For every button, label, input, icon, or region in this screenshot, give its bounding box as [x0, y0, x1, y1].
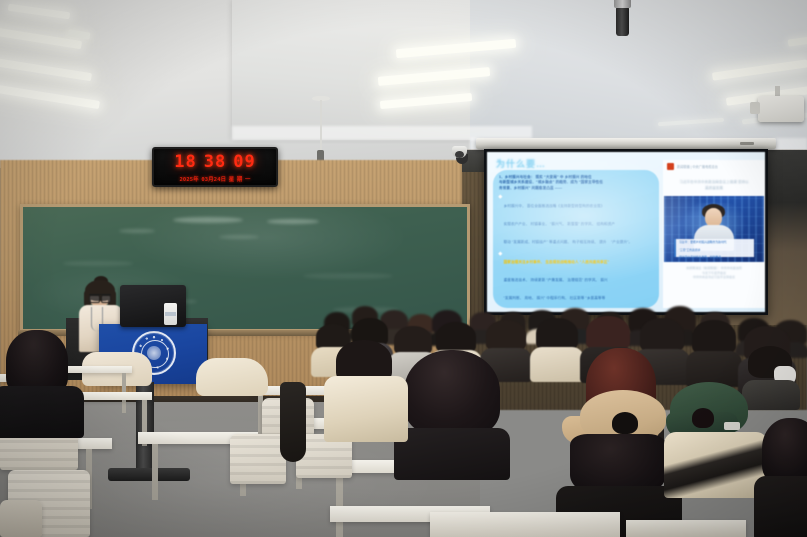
clock-seconds: 09 — [233, 152, 255, 172]
news-headline: 习近平在中共中央政治局会议上强调 坚持以 高质量发展 — [663, 173, 765, 193]
fluorescent-tube-light — [0, 57, 92, 81]
cap-label — [724, 422, 740, 430]
news-body-text: 央视网消息（新闻联播）：中共中央政治局 今天下午召开会议 中共中央总书记习近平主… — [663, 262, 765, 280]
lecture-hall-photo: 为什么要… 1、乡村振兴与社会： 现实 “大变局” 中 乡村振兴 的地位 与新型… — [0, 0, 807, 537]
slide-line: 联动 “发展新成、村镇技产” 等重点问题、 构子相互持续、 提升 — [504, 240, 607, 244]
fluorescent-tube-light — [8, 4, 70, 20]
projection-screen: 为什么要… 1、乡村振兴与社会： 现实 “大变局” 中 乡村振兴 的地位 与新型… — [484, 149, 768, 315]
news-source-label: 新闻联播 | 中央广播电视总台 — [677, 164, 718, 169]
slide-bullet: 乡村振兴中， 首位全面推进战略《支持新型转型构的农业现》 实现农户产业、 村镇事… — [499, 194, 653, 248]
slide-line: 国家治理关注乡村事件、 生态规划战略推动人 “人居共建共享区” — [504, 260, 610, 264]
student-foreground-center — [404, 350, 500, 462]
lower-third-line: 习近平：要把乡村振兴战略作为新时代 — [676, 239, 754, 247]
lower-third-line: 坚持农业农村优先发展，加快推进 — [676, 254, 754, 262]
projection-screen-roller — [476, 138, 776, 149]
lower-third-line: “三农”工作总抓手 — [676, 247, 754, 255]
slide-news-screenshot: 新闻联播 | 中央广播电视总台 习近平在中共中央政治局会议上强调 坚持以 高质量… — [663, 160, 765, 308]
slide-line: “发展判断、 用地、 振兴” 中程序行构、 社区新等 “乡居高等等 — [504, 296, 606, 300]
cap-rear-opening — [692, 408, 714, 428]
sweater-on-desk — [196, 358, 268, 396]
student-foreground-left — [0, 330, 78, 430]
student-desk — [626, 520, 746, 537]
clock-weekday-2: 期 — [237, 175, 243, 183]
slide-line: “产业提升”。 — [611, 240, 632, 244]
clock-weekday-3: 一 — [245, 175, 251, 183]
student-desk — [430, 512, 620, 537]
slide-line: 乡村振兴中， 首位全面推进战略《支持新型转型构的农业现》 — [504, 204, 605, 208]
slide-title: 为什么要… — [496, 157, 546, 170]
student-foreground-right — [762, 418, 807, 537]
student-chair — [0, 500, 42, 537]
ceiling-spotlight — [616, 6, 629, 36]
clock-minutes: 38 — [204, 152, 226, 172]
presenter-glasses — [89, 294, 111, 300]
lectern-base — [108, 468, 190, 481]
news-lower-third: 习近平：要把乡村振兴战略作为新时代 “三农”工作总抓手 坚持农业农村优先发展，加… — [674, 239, 754, 257]
slide-text-panel: 1、乡村振兴与社会： 现实 “大变局” 中 乡村振兴 的地位 与新型城乡关系建设… — [493, 170, 659, 308]
clock-date-year: 2025年 — [179, 175, 198, 183]
fluorescent-tube-light — [68, 29, 91, 39]
slide-line: 重度推进技术、 持续更新 “产需发展、 治理规范” 的学风、 振兴 — [504, 278, 608, 282]
clock-date-day: 03月24日 — [201, 175, 226, 183]
water-cup — [164, 303, 177, 325]
news-source-row: 新闻联播 | 中央广播电视总台 — [663, 160, 765, 173]
student — [536, 318, 578, 378]
student-foreground-beige — [330, 340, 400, 440]
student — [692, 320, 736, 382]
cctv-logo-icon — [667, 163, 674, 170]
student-green-cap — [670, 382, 766, 502]
news-video-still: 习近平：要把乡村振兴战略作为新时代 “三农”工作总抓手 坚持农业农村优先发展，加… — [664, 196, 764, 262]
slide-bullet: 国家治理关注乡村事件、 生态规划战略推动人 “人居共建共享区” 重度推进技术、 … — [499, 250, 653, 312]
hanging-coat — [280, 382, 306, 462]
student-chair — [230, 434, 286, 484]
slide-line: 务背景、乡村振兴” 问题愈发凸显 —— — [499, 186, 653, 191]
cap-rear-opening — [612, 412, 638, 434]
presentation-slide: 为什么要… 1、乡村振兴与社会： 现实 “大变局” 中 乡村振兴 的地位 与新型… — [487, 152, 765, 312]
ceiling-projector — [758, 96, 804, 122]
clock-weekday-1: 星 — [229, 175, 235, 183]
led-wall-clock: 18 38 09 2025年 03月24日 星 期 一 — [152, 147, 278, 187]
slide-line: 实现农户产业、 村镇事业、 “振兴气、 新整整” 的学风、 结构和资产 — [504, 222, 616, 226]
news-headline-line: 高质量发展 — [669, 185, 759, 191]
clock-date: 2025年 03月24日 星 期 一 — [154, 175, 276, 183]
clock-time: 18 38 09 — [154, 152, 276, 172]
bullet-diamond-icon — [498, 195, 502, 199]
news-body-line: 中共中央总书记习近平主持会议 — [668, 275, 760, 280]
desk-leg — [152, 444, 158, 500]
fluorescent-tube-light — [0, 83, 100, 109]
bullet-diamond-icon — [498, 251, 502, 255]
desk-leg — [336, 473, 343, 537]
clock-hours: 18 — [174, 152, 196, 172]
